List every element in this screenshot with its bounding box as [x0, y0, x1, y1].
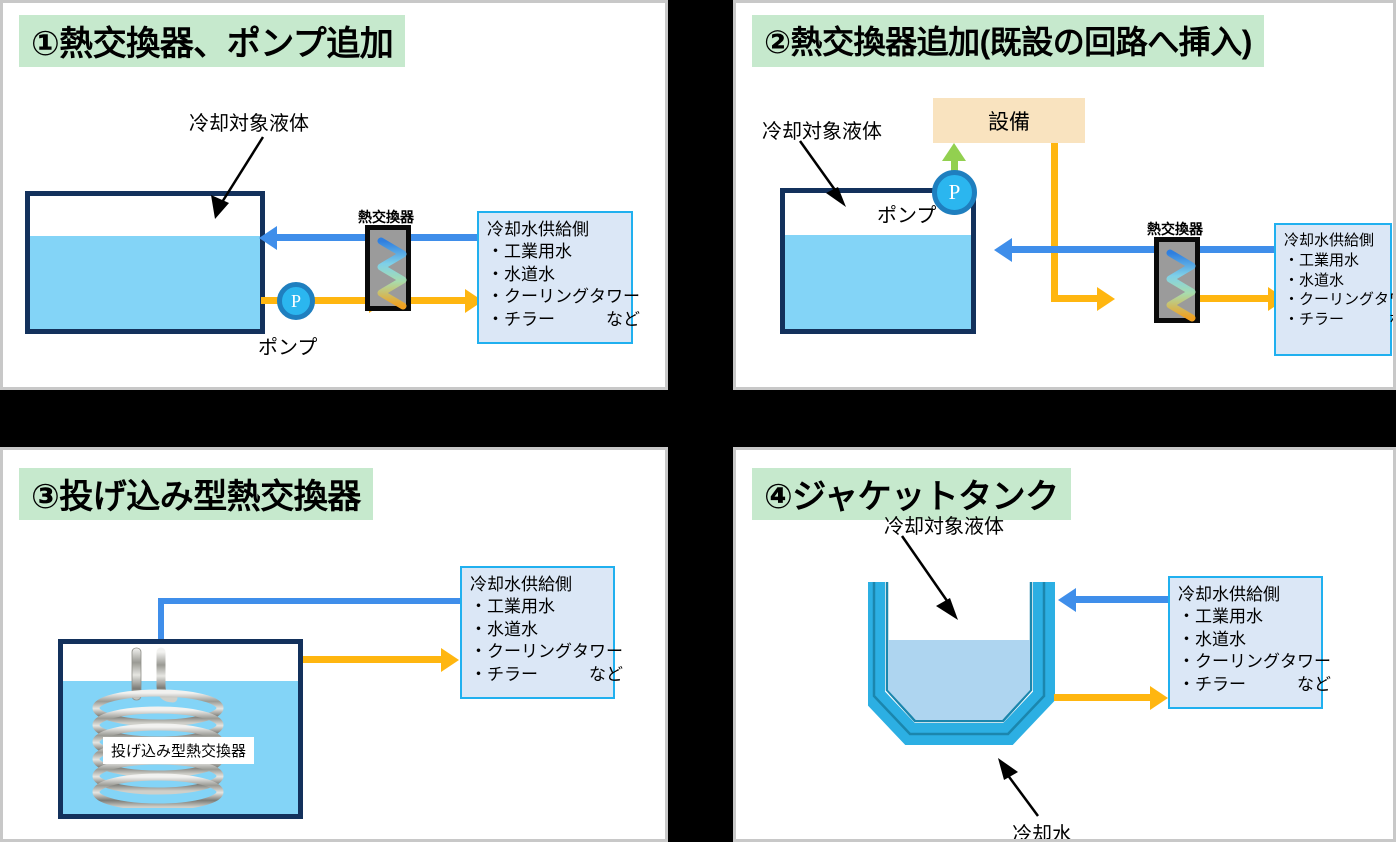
supply-heading: 冷却水供給側 — [1178, 584, 1313, 606]
supply-item-2: ・クーリングタワー — [1178, 651, 1313, 673]
target-liquid-leader-arrow — [193, 133, 283, 228]
panel-1-title: ①熱交換器、ポンプ追加 — [19, 15, 405, 67]
heat-exchanger-label: 熱交換器 — [1147, 219, 1203, 239]
pump-label: ポンプ — [258, 331, 317, 360]
process-pipe-arrow-up — [942, 143, 966, 161]
cold-water-pipe-right — [1198, 246, 1280, 253]
cooling-water-supply-box: 冷却水供給側 ・工業用水 ・水道水 ・クーリングタワー ・チラー など — [460, 566, 615, 699]
supply-item-0: ・工業用水 — [1178, 606, 1313, 628]
pump-label: ポンプ — [877, 199, 936, 228]
cold-water-arrow — [1058, 588, 1076, 612]
target-liquid-label: 冷却対象液体 — [189, 107, 309, 136]
cooling-water-supply-box: 冷却水供給側 ・工業用水 ・水道水 ・クーリングタワー ・チラー など — [1168, 576, 1323, 709]
cold-water-pipe-right — [409, 234, 483, 241]
cooling-water-supply-box: 冷却水供給側 ・工業用水 ・水道水 ・クーリングタワー ・チラー など — [477, 211, 633, 344]
heat-exchanger-body — [365, 225, 411, 311]
supply-item-1: ・水道水 — [1178, 629, 1313, 651]
equipment-box: 設備 — [933, 98, 1085, 143]
panel-heat-exchanger-pump: ①熱交換器、ポンプ追加 冷却対象液体 熱交換器 — [0, 0, 668, 390]
supply-item-1: ・水道水 — [470, 619, 605, 641]
cold-water-arrow-tank — [994, 238, 1012, 262]
target-liquid-label: 冷却対象液体 — [884, 510, 1004, 539]
heat-exchanger-label: 熱交換器 — [358, 207, 414, 227]
process-tank-water — [785, 235, 971, 329]
cold-water-pipe — [1076, 596, 1171, 603]
cooling-water-label: 冷却水 — [1012, 818, 1072, 842]
supply-item-3: ・チラー など — [1284, 310, 1382, 330]
coil-caption: 投げ込み型熱交換器 — [103, 737, 254, 764]
supply-item-2: ・クーリングタワー — [470, 641, 605, 663]
panel-3-title: ③投げ込み型熱交換器 — [19, 468, 373, 520]
pump-symbol: P — [291, 291, 301, 312]
supply-item-1: ・水道水 — [487, 264, 623, 286]
panel-heat-exchanger-insert: ②熱交換器追加(既設の回路へ挿入) 設備 冷却対象液体 ポンプ P — [733, 0, 1396, 390]
warm-water-pipe-hx-to-supply — [1198, 295, 1270, 302]
cooling-water-supply-box: 冷却水供給側 ・工業用水 ・水道水 ・クーリングタワー ・チラー など — [1274, 223, 1392, 356]
panel-2-title: ②熱交換器追加(既設の回路へ挿入) — [752, 15, 1264, 67]
cold-water-arrow-tank — [259, 226, 277, 250]
supply-heading: 冷却水供給側 — [470, 574, 605, 596]
immersion-coil — [65, 646, 265, 808]
supply-item-0: ・工業用水 — [1284, 251, 1382, 271]
pump-symbol: P — [949, 180, 961, 205]
panel-immersion-heat-exchanger: ③投げ込み型熱交換器 — [0, 447, 668, 842]
supply-item-0: ・工業用水 — [470, 596, 605, 618]
warm-water-pipe-pump-to-hx — [311, 297, 371, 304]
warm-water-arrow — [1150, 686, 1168, 710]
equipment-return-arrow — [1097, 287, 1115, 311]
slide-canvas: ①熱交換器、ポンプ追加 冷却対象液体 熱交換器 — [0, 0, 1396, 842]
warm-water-pipe — [1054, 694, 1152, 701]
supply-item-2: ・クーリングタワー — [1284, 290, 1382, 310]
target-liquid-leader-arrow — [796, 135, 886, 225]
supply-item-2: ・クーリングタワー — [487, 286, 623, 308]
supply-item-3: ・チラー など — [487, 309, 623, 331]
supply-heading: 冷却水供給側 — [487, 219, 623, 241]
process-tank-water — [30, 236, 260, 329]
equipment-return-horizontal — [1051, 295, 1099, 302]
equipment-return-vertical — [1051, 143, 1058, 302]
pump-icon: P — [932, 170, 977, 215]
supply-item-3: ・チラー など — [1178, 674, 1313, 696]
supply-item-3: ・チラー など — [470, 664, 605, 686]
heat-exchanger-body — [1154, 237, 1200, 323]
supply-heading: 冷却水供給側 — [1284, 231, 1382, 251]
pump-icon: P — [277, 282, 315, 320]
panel-jacketed-tank: ④ジャケットタンク 冷却対象液体 冷却水 冷却水供給側 ・工業 — [733, 447, 1396, 842]
warm-water-pipe-hx-to-supply — [409, 297, 467, 304]
supply-item-1: ・水道水 — [1284, 271, 1382, 291]
warm-water-arrow-supply — [441, 648, 459, 672]
supply-item-0: ・工業用水 — [487, 241, 623, 263]
target-liquid-leader-arrow — [896, 532, 996, 642]
cold-water-pipe-horizontal — [158, 598, 463, 604]
target-liquid-label: 冷却対象液体 — [762, 115, 882, 144]
equipment-label: 設備 — [988, 106, 1030, 136]
